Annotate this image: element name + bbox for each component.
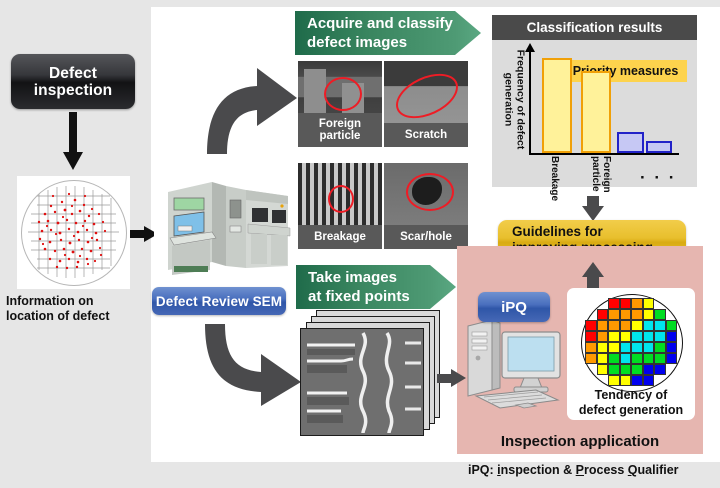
wafer-caption-line2: location of defect (6, 309, 146, 324)
heatmap-cell (631, 298, 643, 309)
tendency-card: Tendency of defect generation (567, 288, 695, 420)
chart-category-label-foreign-particle: Foreign particle (586, 156, 612, 193)
heatmap-cell (608, 331, 620, 342)
chart-y-axis (529, 50, 531, 154)
banner-take-line2: at fixed points (308, 287, 430, 306)
defect-inspection-line2: inspection (34, 82, 113, 99)
heatmap-cell (608, 375, 620, 386)
heatmap-cell (608, 298, 620, 309)
chart-category-label-breakage: Breakage (547, 156, 560, 201)
heatmap-cell (620, 320, 632, 331)
guidelines-line1: Guidelines for (512, 224, 686, 240)
heatmap-cell (608, 364, 620, 375)
chart-bar-foreign-particle (581, 71, 611, 153)
tendency-label-line2: defect generation (567, 403, 695, 418)
heatmap-cell (631, 342, 643, 353)
heatmap-cell (654, 375, 666, 386)
defect-tile-caption: Foreign particle (298, 113, 382, 147)
heatmap-cell (585, 309, 597, 320)
heatmap-cell (654, 342, 666, 353)
wafer-caption-line1: Information on (6, 294, 146, 309)
heatmap-cell (597, 331, 609, 342)
curved-arrow-down-right-icon (203, 322, 305, 408)
ipq-badge: iPQ (478, 292, 550, 322)
banner-take-line1: Take images (308, 268, 430, 287)
arrow-down-icon (62, 112, 84, 172)
defect-highlight-ellipse-icon (406, 173, 454, 211)
tendency-label-line1: Tendency of (567, 388, 695, 403)
heatmap-cell (666, 353, 678, 364)
chart-y-axis-arrow-icon (525, 43, 535, 52)
heatmap-cell (620, 298, 632, 309)
footer-rocess: rocess (584, 463, 628, 477)
heatmap-cell (643, 298, 655, 309)
wafer-map-caption: Information on location of defect (6, 294, 146, 323)
heatmap-grid (585, 298, 677, 386)
heatmap-cell (654, 364, 666, 375)
heatmap-cell (654, 331, 666, 342)
heatmap-cell (666, 342, 678, 353)
heatmap-cell (608, 353, 620, 364)
heatmap-cell (585, 298, 597, 309)
heatmap-cell (631, 320, 643, 331)
defect-tile-caption: Scratch (384, 123, 468, 147)
heatmap-cell (597, 364, 609, 375)
curved-arrow-up-right-icon (205, 58, 305, 156)
defect-highlight-ellipse-icon (324, 77, 362, 111)
heatmap-cell (585, 353, 597, 364)
heatmap-cell (597, 320, 609, 331)
heatmap-cell (620, 309, 632, 320)
chart-x-axis (529, 153, 679, 155)
inspection-application-label: Inspection application (457, 433, 703, 450)
sem-machine-photo (154, 170, 292, 285)
heatmap-cell (608, 309, 620, 320)
chart-y-axis-label: Frequency of defect generation (503, 45, 526, 155)
heatmap-cell (585, 320, 597, 331)
footer-ualifier: ualifier (638, 463, 679, 477)
heatmap-cell (654, 298, 666, 309)
heatmap-cell (631, 364, 643, 375)
heatmap-cell (643, 364, 655, 375)
defect-tile-scratch: Scratch (384, 61, 468, 147)
chart-y-axis-label-text: Frequency of defect generation (503, 50, 527, 150)
footer-p: P (576, 463, 584, 477)
heatmap-cell (620, 375, 632, 386)
sem-caption-badge: Defect Review SEM (152, 287, 286, 315)
heatmap-cell (585, 364, 597, 375)
classification-bar-chart: Frequency of defect generation Priority … (492, 40, 697, 187)
footer-legend: iPQ: inspection & Process Qualifier (468, 463, 716, 477)
chart-bar-3 (617, 132, 644, 153)
banner-arrow-tip-icon (430, 265, 456, 309)
heatmap-cell (666, 320, 678, 331)
heatmap-cell (666, 331, 678, 342)
heatmap-cell (666, 364, 678, 375)
heatmap-cell (631, 375, 643, 386)
heatmap-cell (654, 320, 666, 331)
defect-tile-scar-hole: Scar/hole (384, 163, 468, 249)
heatmap-cell (643, 331, 655, 342)
tendency-label: Tendency of defect generation (567, 388, 695, 417)
banner-take-images: Take images at fixed points (296, 265, 456, 309)
heatmap-cell (643, 309, 655, 320)
heatmap-cell (620, 364, 632, 375)
heatmap-cell (631, 309, 643, 320)
classification-title: Classification results (492, 15, 697, 40)
defect-tile-caption: Scar/hole (384, 225, 468, 249)
heatmap-cell (631, 353, 643, 364)
heatmap-cell (608, 320, 620, 331)
heatmap-cell (585, 342, 597, 353)
caption-line1: Foreign (319, 118, 361, 130)
banner-acquire-line2: defect images (307, 33, 455, 52)
desktop-computer-icon (466, 308, 574, 416)
heatmap-cell (620, 342, 632, 353)
heatmap-cell (620, 353, 632, 364)
heatmap-cell (597, 298, 609, 309)
heatmap-cell (597, 353, 609, 364)
arrow-right-icon (437, 368, 467, 388)
heatmap-cell (643, 375, 655, 386)
heatmap-cell (597, 375, 609, 386)
heatmap-cell (666, 309, 678, 320)
chart-bar-breakage (542, 58, 572, 153)
heatmap-cell (597, 342, 609, 353)
heatmap-cell (631, 331, 643, 342)
heatmap-cell (597, 309, 609, 320)
footer-prefix: iPQ: (468, 463, 497, 477)
classification-results-card: Classification results Frequency of defe… (492, 15, 697, 187)
heatmap-cell (585, 375, 597, 386)
chart-bar-4 (646, 141, 672, 153)
banner-acquire-classify: Acquire and classify defect images (295, 11, 481, 55)
wafer-defect-scatter-icon (17, 176, 130, 289)
defect-tile-foreign-particle: Foreign particle (298, 61, 382, 147)
footer-q: Q (628, 463, 638, 477)
heatmap-cell (620, 331, 632, 342)
heatmap-cell (666, 298, 678, 309)
heatmap-cell (608, 342, 620, 353)
arrow-down-icon (582, 196, 604, 222)
heatmap-cell (654, 309, 666, 320)
defect-inspection-box: Defect inspection (11, 54, 135, 109)
footer-nspection: nspection & (501, 463, 576, 477)
heatmap-cell (585, 331, 597, 342)
defect-highlight-ellipse-icon (328, 185, 354, 213)
heatmap-cell (654, 353, 666, 364)
heatmap-cell (643, 320, 655, 331)
wafer-heatmap-icon (580, 294, 682, 390)
banner-acquire-line1: Acquire and classify (307, 14, 455, 33)
defect-inspection-line1: Defect (34, 65, 113, 82)
defect-tile-breakage: Breakage (298, 163, 382, 249)
caption-line2: particle (319, 130, 361, 142)
chart-ellipsis-annotation: · · · (640, 168, 676, 188)
heatmap-cell (666, 375, 678, 386)
fixed-point-image-stack (300, 310, 460, 435)
heatmap-cell (643, 353, 655, 364)
sem-image-fixed-point (300, 328, 424, 436)
banner-arrow-tip-icon (455, 11, 481, 55)
defect-tile-caption: Breakage (298, 225, 382, 249)
heatmap-cell (643, 342, 655, 353)
